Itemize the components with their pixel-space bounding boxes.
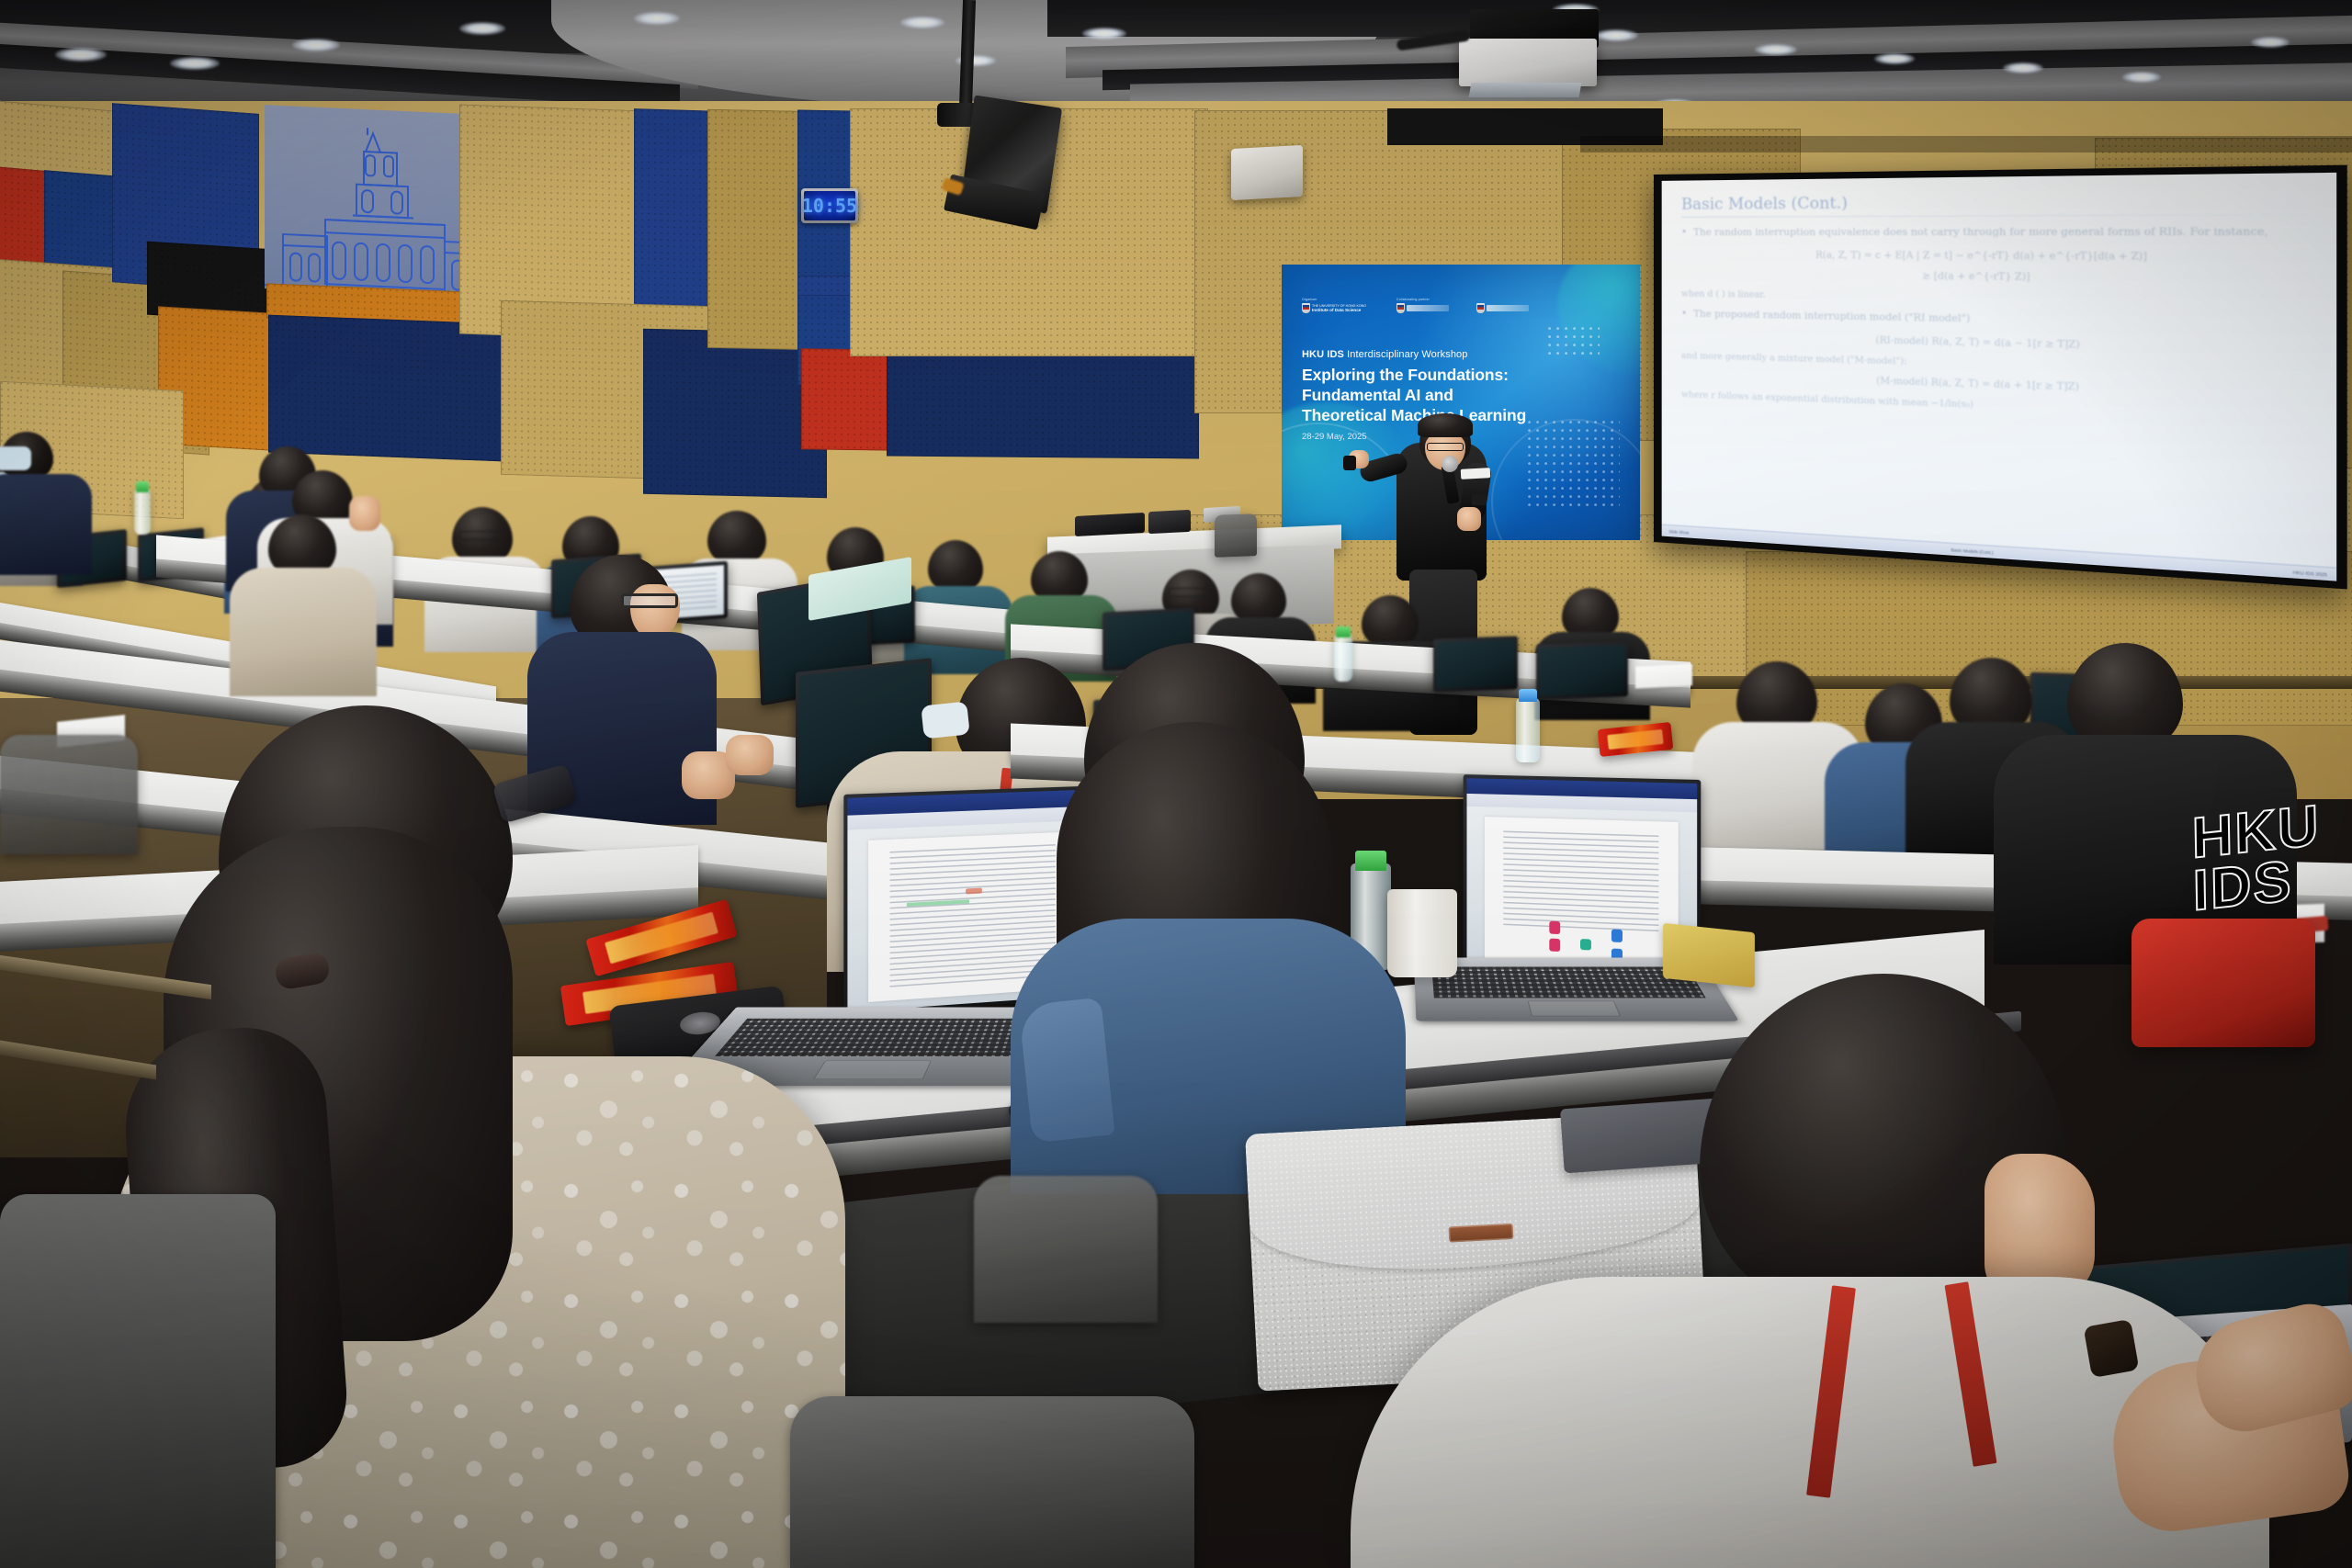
partner-wordmark: [1407, 305, 1449, 311]
laptop-trackpad: [813, 1060, 932, 1079]
ceiling-downlight: [1594, 29, 1638, 41]
audience-head: [707, 511, 766, 566]
audience-body: [230, 568, 377, 696]
podium-chair: [1215, 513, 1257, 558]
partner-logo-2: [1476, 303, 1529, 313]
wall-shadow-strip: [1580, 136, 2352, 152]
ceiling-downlight: [1082, 28, 1126, 39]
pdf-marker-pink: [1549, 921, 1560, 934]
document-app-toolbar: [847, 789, 1094, 829]
partner-crest-icon: [1396, 303, 1405, 313]
projector-lens-housing: [1469, 83, 1582, 97]
ceiling-downlight: [634, 12, 680, 25]
hku-ids-logo: THE UNIVERSITY OF HONG KONG Institute of…: [1302, 303, 1366, 313]
papers-on-desk: [1635, 663, 1692, 688]
ceiling-downlight: [1755, 44, 1797, 55]
speaker-right-hand: [1457, 507, 1481, 531]
podium-av-box: [1148, 510, 1191, 534]
bullet-dot-icon: •: [1681, 226, 1687, 241]
tshirt-hku-ids-print: HKU IDS: [2191, 796, 2348, 934]
banner-partner-logos: [1396, 303, 1529, 313]
banner-title-line-1: Exploring the Foundations:: [1302, 365, 1526, 385]
audience-hand: [349, 496, 380, 531]
banner-eyebrow-rest: Interdisciplinary Workshop: [1344, 349, 1468, 360]
laptop-screen: [1540, 645, 1624, 695]
water-bottle: [1334, 634, 1352, 682]
pdf-marker-green: [1580, 939, 1591, 951]
hku-crest-icon: [1302, 303, 1310, 313]
water-bottle-cap: [136, 481, 149, 492]
clock-face: 10:55: [804, 191, 855, 220]
student-glasses: [621, 593, 678, 608]
banner-eyebrow: HKU IDS Interdisciplinary Workshop: [1302, 349, 1526, 360]
student-hand: [726, 735, 774, 775]
ceiling-downlight: [2003, 62, 2043, 73]
pdf-marker-blue: [1611, 930, 1623, 943]
water-bottle: [1516, 698, 1540, 762]
denim-shirt-collar: [1018, 998, 1114, 1144]
bullet-dot-icon: •: [1681, 307, 1687, 321]
projector: [1459, 39, 1597, 86]
banner-title-line-2: Fundamental AI and: [1302, 385, 1526, 405]
podium-av-equipment: [1075, 513, 1145, 536]
pdf-page: [1485, 817, 1679, 969]
digital-wall-clock: 10:55: [801, 188, 858, 223]
tshirt-text-line2: IDS: [2192, 849, 2348, 918]
slide-bullet-1: • The random interruption equivalence do…: [1681, 224, 2311, 241]
wall-speaker: [1231, 145, 1303, 200]
chair-back-left: [0, 735, 138, 854]
pdf-text-lines: [1504, 831, 1658, 932]
ceiling-downlight: [292, 39, 340, 51]
chair-foreground-left: [0, 1194, 276, 1568]
partner-logo-1: [1396, 303, 1449, 313]
partner-wordmark: [1487, 305, 1529, 311]
projection-screen-surface: Basic Models (Cont.) • The random interr…: [1662, 173, 2337, 581]
pdf-app-toolbar: [1466, 778, 1697, 812]
banner-organiser-group: Organiser THE UNIVERSITY OF HONG KONG In…: [1302, 298, 1366, 313]
laptop-trackpad: [1528, 1001, 1622, 1016]
pdf-marker-pink: [1549, 939, 1560, 952]
speaker-hair: [1418, 413, 1473, 437]
snack-label: [1607, 728, 1664, 750]
banner-title-block: HKU IDS Interdisciplinary Workshop Explo…: [1302, 349, 1526, 442]
presentation-slide: Basic Models (Cont.) • The random interr…: [1662, 173, 2337, 581]
banner-dot-grid: [1528, 421, 1620, 508]
banner-blob: [1557, 265, 1640, 375]
chair-mid: [974, 1176, 1158, 1323]
yellow-notebook: [1663, 923, 1755, 988]
speaker-wristwatch: [1472, 494, 1487, 505]
laptop-mid-row: [1536, 641, 1628, 699]
wall-stripe-blue: [797, 110, 853, 387]
audience-glasses: [1169, 588, 1211, 597]
clock-time: 10:55: [802, 195, 857, 217]
taskbar-mid-text: Basic Models (Cont.): [1951, 547, 1993, 555]
document-text-lines: [889, 844, 1056, 990]
banner-support-group: Collaborating partner: [1396, 298, 1529, 313]
banner-date: 28-29 May, 2025: [1302, 432, 1526, 442]
wristwatch: [2084, 1319, 2140, 1378]
microphone-head: [1442, 456, 1458, 472]
speaker-glasses: [1427, 443, 1464, 451]
projection-screen: Basic Models (Cont.) • The random interr…: [1654, 165, 2347, 590]
taskbar-left-text: Slide Show: [1668, 529, 1689, 535]
water-bottle-cap: [1519, 689, 1537, 702]
paper-cup: [1387, 889, 1457, 977]
face-mask: [921, 701, 969, 739]
wall-panel-navy: [268, 315, 526, 463]
hku-ids-logo-text: THE UNIVERSITY OF HONG KONG Institute of…: [1312, 304, 1366, 312]
ceiling-downlight: [55, 48, 107, 62]
banner-logo-row: Organiser THE UNIVERSITY OF HONG KONG In…: [1302, 298, 1529, 313]
banner-organiser-label: Organiser: [1302, 298, 1366, 301]
water-bottle-cap: [1355, 851, 1386, 871]
taskbar-right-text: HKU IDS 2025: [2293, 570, 2327, 577]
banner-support-label: Collaborating partner: [1396, 298, 1529, 301]
document-annotation: [966, 887, 982, 894]
laptop-keyboard: [715, 1019, 1055, 1056]
wall-stripe-accent: [797, 276, 853, 296]
laptop-screen: [1437, 640, 1514, 689]
slide-note-1: when d ( ) is linear.: [1681, 288, 2311, 308]
water-bottle-cap: [1336, 626, 1351, 637]
ceiling-downlight: [900, 17, 944, 28]
slide-equation-1: R(a, Z, T) = c + E[A | Z = t] − e^{-rT} …: [1681, 250, 2311, 264]
audience-body: [0, 474, 92, 575]
slide-title: Basic Models (Cont.): [1681, 190, 2311, 218]
wall-panel-navy: [887, 346, 1199, 459]
partner-crest-icon: [1476, 303, 1485, 313]
water-bottle: [134, 489, 151, 535]
ceiling-downlight: [1874, 53, 1915, 64]
microphone-flag: [1461, 468, 1491, 479]
slide-bullet-1-text: The random interruption equivalence does…: [1693, 224, 2268, 241]
ceiling-downlight: [2122, 72, 2161, 83]
red-backpack: [2131, 919, 2315, 1047]
banner-eyebrow-bold: HKU IDS: [1302, 349, 1344, 360]
slide-bullet-2: • The proposed random interruption model…: [1681, 307, 2311, 333]
audience-glasses: [459, 531, 507, 540]
banner-dot-grid-small: [1548, 327, 1600, 356]
ceiling-downlight: [459, 22, 505, 35]
ceiling-downlight: [2251, 37, 2290, 48]
ceiling-downlight: [170, 57, 220, 70]
lecture-hall-photo: 10:55 Organiser THE UNIVERSITY OF HONG K…: [0, 0, 2352, 1568]
presentation-clicker: [1343, 456, 1356, 470]
face-mask: [0, 446, 31, 470]
laptop-mid-row: [1433, 636, 1518, 692]
slide-bullet-2-text: The proposed random interruption model (…: [1693, 307, 1970, 327]
chair-foreground-center: [790, 1396, 1194, 1568]
slide-equation-2: ≥ [d(a + e^{-rT} Z)]: [1681, 269, 2311, 286]
banner-title-line-3: Theoretical Machine Learning: [1302, 405, 1526, 425]
hku-logo-line2: Institute of Data Science: [1312, 308, 1361, 312]
